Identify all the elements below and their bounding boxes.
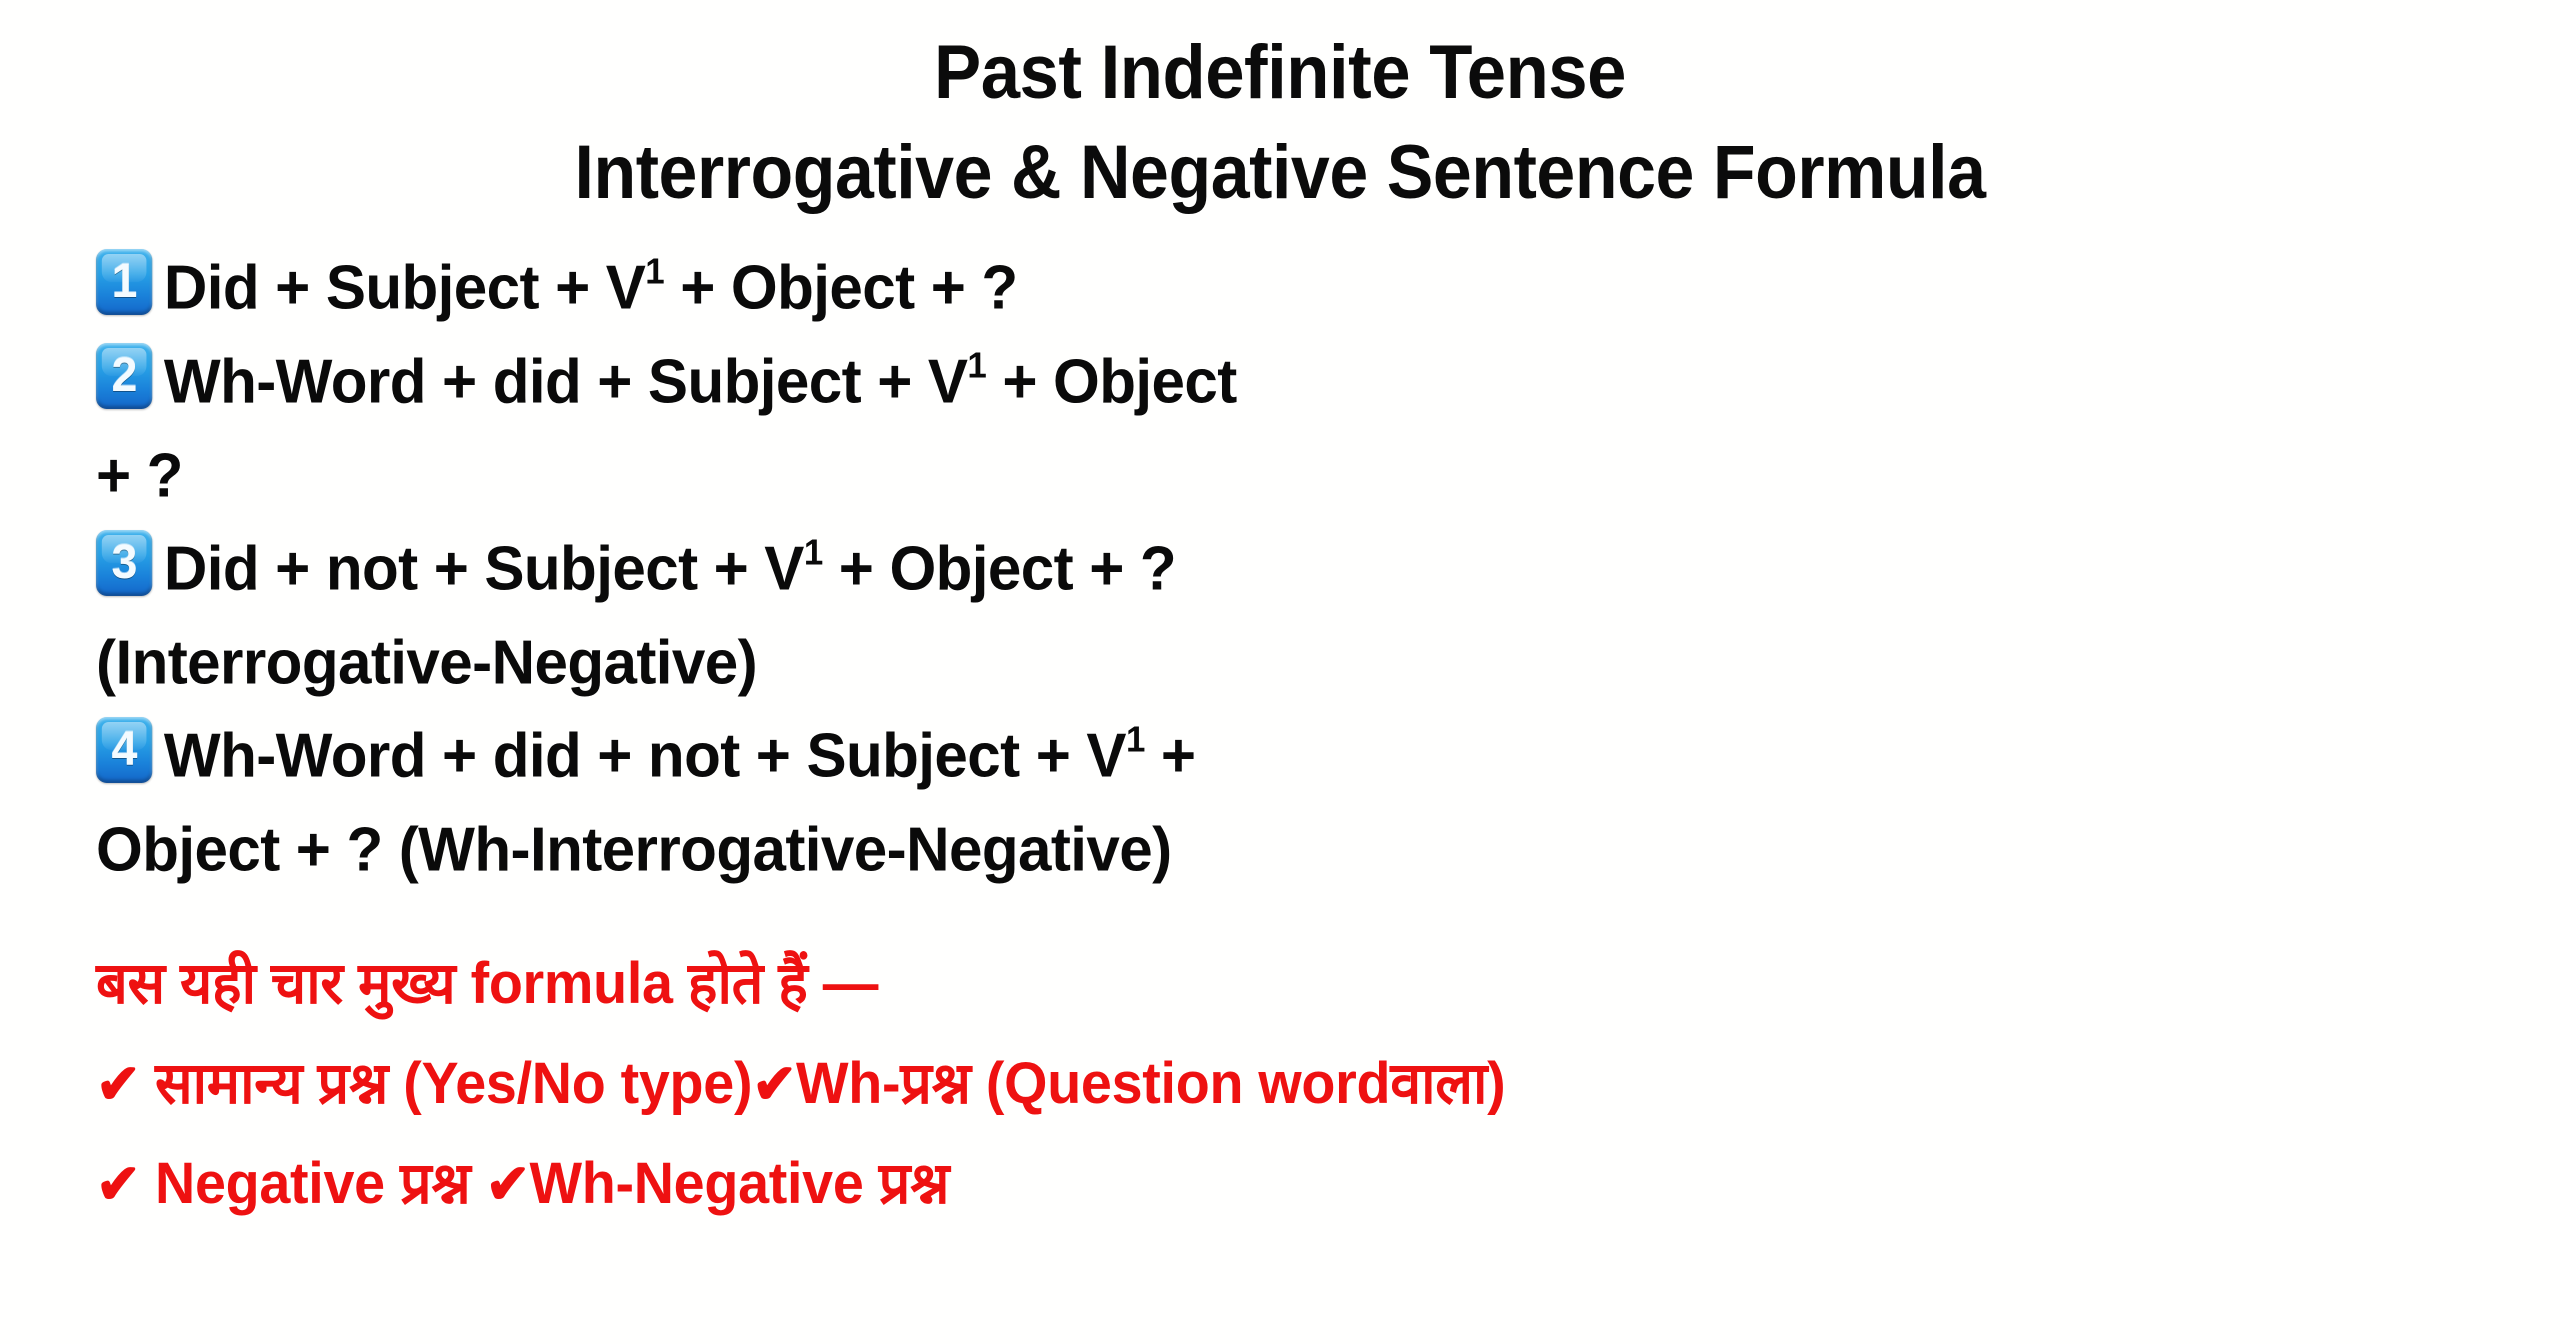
formula-text-1a: Did + Subject + V [164, 254, 645, 323]
summary-item-a: सामान्य प्रश्न (Yes/No type) [155, 1051, 752, 1116]
keycap-digit-two-icon: 2 [96, 343, 152, 409]
formula-item-4-cont: Object + ? (Wh-Interrogative-Negative) [96, 802, 2447, 896]
keycap-digit-three-icon: 3 [96, 530, 152, 596]
formula-text-2c: + ? [96, 441, 183, 510]
formula-item-3: 3 Did + not + Subject + V1 + Object + ? [96, 521, 2447, 615]
formula-sup-4a: 1 [1126, 719, 1145, 760]
keycap-digit-label: 1 [96, 258, 152, 306]
summary-item-c: Negative प्रश्न [155, 1151, 470, 1216]
formula-text-3b: + Object + ? [823, 535, 1176, 604]
check-mark-icon: ✔ [96, 1153, 140, 1215]
formula-sup-3a: 1 [804, 532, 823, 573]
formula-sup-2a: 1 [967, 344, 986, 385]
formula-item-3-cont: (Interrogative-Negative) [96, 615, 2447, 709]
keycap-digit-one-icon: 1 [96, 249, 152, 315]
check-mark-icon: ✔ [486, 1153, 530, 1215]
summary-line-two: ✔ सामान्य प्रश्न (Yes/No type)✔Wh-प्रश्न… [96, 1034, 2433, 1134]
check-mark-icon: ✔ [96, 1053, 140, 1115]
formula-text-4c: Object + ? (Wh-Interrogative-Negative) [96, 816, 1172, 885]
formula-text-3a: Did + not + Subject + V [164, 535, 804, 604]
formula-item-2: 2 Wh-Word + did + Subject + V1 + Object [96, 334, 2447, 428]
heading-block: Past Indefinite Tense Interrogative & Ne… [0, 0, 2560, 218]
keycap-digit-four-icon: 4 [96, 717, 152, 783]
formula-list: 1 Did + Subject + V1 + Object + ? 2 Wh-W… [0, 240, 2560, 895]
summary-item-b: Wh-प्रश्न (Question wordवाला) [796, 1051, 1505, 1116]
keycap-digit-label: 3 [96, 539, 152, 587]
keycap-digit-label: 2 [96, 352, 152, 400]
formula-item-1: 1 Did + Subject + V1 + Object + ? [96, 240, 2447, 334]
summary-line-three: ✔ Negative प्रश्न ✔Wh-Negative प्रश्न [96, 1134, 2433, 1234]
check-mark-icon: ✔ [752, 1053, 796, 1115]
summary-item-d: Wh-Negative प्रश्न [530, 1151, 950, 1216]
formula-text-3c: (Interrogative-Negative) [96, 628, 757, 697]
formula-text-2a: Wh-Word + did + Subject + V [164, 348, 967, 417]
formula-item-2-cont: + ? [96, 428, 2447, 522]
page-title: Past Indefinite Tense [90, 30, 2471, 115]
summary-intro: बस यही चार मुख्य formula होते हैं — [96, 934, 2433, 1034]
summary-block: बस यही चार मुख्य formula होते हैं — ✔ सा… [0, 934, 2560, 1234]
formula-text-4b: + [1145, 722, 1196, 791]
formula-text-1b: + Object + ? [664, 254, 1017, 323]
page-subtitle: Interrogative & Negative Sentence Formul… [102, 127, 2457, 218]
formula-text-2b: + Object [986, 348, 1236, 417]
formula-sup-1a: 1 [645, 251, 664, 292]
formula-text-4a: Wh-Word + did + not + Subject + V [164, 722, 1126, 791]
formula-item-4: 4 Wh-Word + did + not + Subject + V1 + [96, 708, 2447, 802]
poster-root: Past Indefinite Tense Interrogative & Ne… [0, 0, 2560, 1344]
keycap-digit-label: 4 [96, 726, 152, 774]
